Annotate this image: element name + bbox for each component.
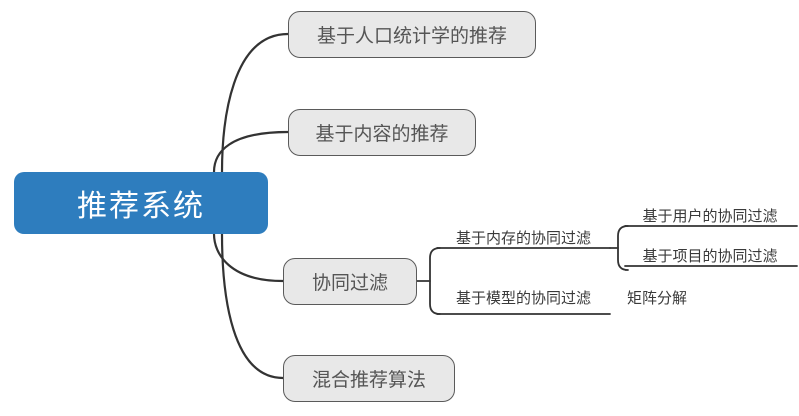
mindmap-node-collaborative-filtering[interactable]: 协同过滤: [283, 258, 417, 305]
node-label: 基于内存的协同过滤: [456, 227, 591, 248]
mindmap-node-hybrid-recommendation[interactable]: 混合推荐算法: [283, 355, 455, 402]
mindmap-node-item-based-cf[interactable]: 基于项目的协同过滤: [625, 244, 795, 266]
connector-root-to-demographic: [222, 34, 288, 172]
root-node-label: 推荐系统: [77, 181, 205, 225]
node-label: 基于模型的协同过滤: [456, 287, 591, 308]
node-label: 基于项目的协同过滤: [642, 245, 777, 266]
node-label: 基于人口统计学的推荐: [317, 21, 507, 48]
node-label: 基于内容的推荐: [315, 119, 448, 146]
mindmap-node-model-based-cf[interactable]: 基于模型的协同过滤: [437, 286, 610, 308]
mindmap-root-node[interactable]: 推荐系统: [14, 172, 268, 234]
connector-root-to-content: [214, 132, 288, 172]
node-label: 协同过滤: [312, 268, 388, 295]
mindmap-node-memory-based-cf[interactable]: 基于内存的协同过滤: [437, 226, 610, 248]
mindmap-node-user-based-cf[interactable]: 基于用户的协同过滤: [625, 204, 795, 226]
mindmap-node-demographic-recommendation[interactable]: 基于人口统计学的推荐: [288, 11, 536, 58]
mindmap-node-matrix-factorization[interactable]: 矩阵分解: [602, 286, 712, 308]
node-label: 基于用户的协同过滤: [642, 205, 777, 226]
mindmap-node-content-based-recommendation[interactable]: 基于内容的推荐: [288, 109, 476, 156]
node-label: 混合推荐算法: [312, 365, 426, 392]
connector-root-to-hybrid: [222, 234, 283, 378]
node-label: 矩阵分解: [627, 287, 687, 308]
